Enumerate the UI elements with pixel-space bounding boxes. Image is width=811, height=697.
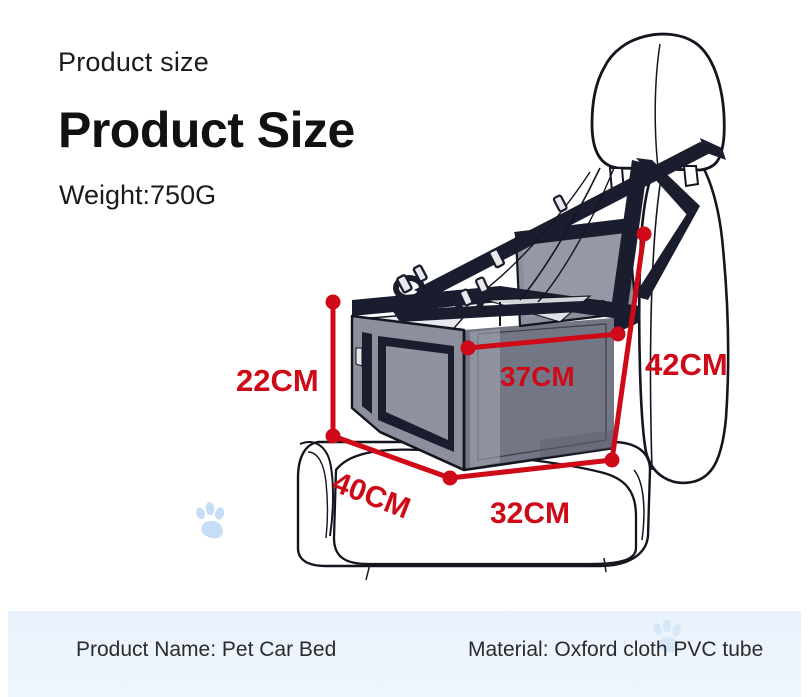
strap-buckle-clip (396, 265, 427, 298)
footer-product-name: Product Name: Pet Car Bed (76, 638, 336, 662)
dimension-label-37cm: 37CM (500, 361, 575, 393)
footer-material: Material: Oxford cloth PVC tube (468, 638, 763, 662)
footer-bar: Product Name: Pet Car Bed Material: Oxfo… (8, 611, 801, 697)
dimension-label-32cm: 32CM (490, 497, 570, 531)
product-size-infographic: Product size Product Size Weight:750G (0, 0, 811, 697)
pet-car-bed-illustration (0, 0, 811, 620)
dimension-label-22cm: 22CM (236, 363, 319, 399)
dimension-label-42cm: 42CM (645, 347, 728, 383)
